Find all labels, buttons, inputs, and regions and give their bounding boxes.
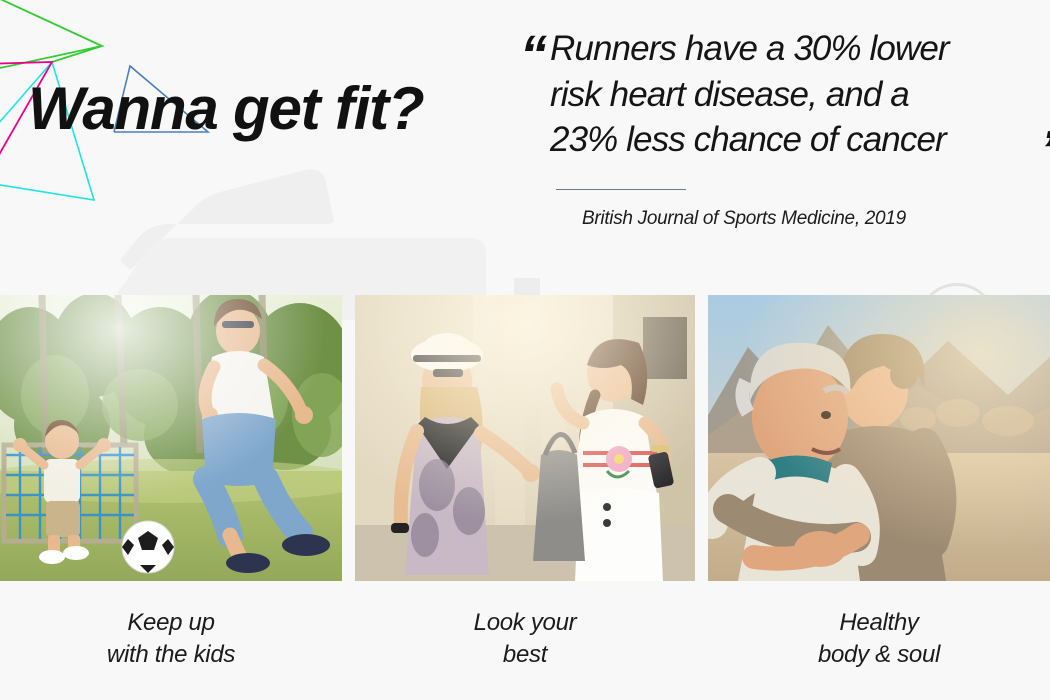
quote-line-3: 23% less chance of cancer xyxy=(550,120,946,159)
quote-text: “ Runners have a 30% lower risk heart di… xyxy=(512,26,1032,163)
caption-line-1: Look your xyxy=(474,607,577,639)
caption-line-2: best xyxy=(474,639,577,671)
card-caption: Look your best xyxy=(474,607,577,670)
quote-source-attribution: British Journal of Sports Medicine, 2019 xyxy=(512,208,1032,230)
benefit-cards-row: Keep up with the kids xyxy=(0,295,1050,700)
quote-line-3-wrapper: 23% less chance of cancer ” xyxy=(550,117,1032,163)
photo-two-women-walking xyxy=(355,295,695,581)
quote-line-1: Runners have a 30% lower xyxy=(550,26,1032,72)
photo-senior-couple-beach xyxy=(708,295,1050,581)
card-caption: Healthy body & soul xyxy=(818,607,940,670)
caption-line-2: body & soul xyxy=(818,639,940,671)
caption-line-2: with the kids xyxy=(107,639,235,671)
caption-line-1: Keep up xyxy=(107,607,235,639)
card-caption: Keep up with the kids xyxy=(107,607,235,670)
benefit-card-look-your-best: Look your best xyxy=(355,295,695,700)
caption-line-1: Healthy xyxy=(818,607,940,639)
benefit-card-healthy-body-and-soul: Healthy body & soul xyxy=(708,295,1050,700)
open-quote-mark: “ xyxy=(520,28,547,82)
benefit-card-keep-up-with-the-kids: Keep up with the kids xyxy=(0,295,342,700)
quote-line-2: risk heart disease, and a xyxy=(550,72,1032,118)
quote-divider xyxy=(556,189,686,190)
close-quote-mark: ” xyxy=(1040,123,1050,177)
quote-block: “ Runners have a 30% lower risk heart di… xyxy=(512,26,1032,230)
banner-header: Wanna get fit? “ Runners have a 30% lowe… xyxy=(0,0,1050,295)
fitness-promo-banner: ® Wanna get fit? “ Runners have a 30% lo… xyxy=(0,0,1050,700)
photo-father-and-son-soccer xyxy=(0,295,342,581)
page-title: Wanna get fit? xyxy=(28,74,423,143)
